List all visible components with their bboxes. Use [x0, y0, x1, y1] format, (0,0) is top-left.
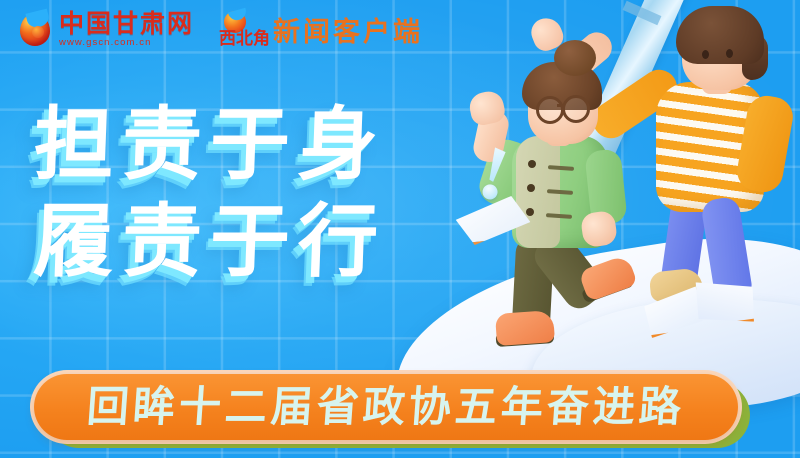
- primary-brand-text-group: 中国甘肃网 www.gscn.com.cn: [59, 10, 194, 49]
- book-page-right: [693, 275, 757, 330]
- secondary-brand-name: 西北角: [219, 30, 270, 48]
- illustration-group: [470, 0, 800, 420]
- person-green-glasses-lens-left: [536, 96, 564, 124]
- primary-brand-logo[interactable]: 中国甘肃网 www.gscn.com.cn: [18, 10, 220, 49]
- xibeijiao-swirl-logo-icon: 西北角: [220, 10, 250, 48]
- app-label: 新闻客户端: [273, 10, 423, 49]
- news-poster-banner: 中国甘肃网 www.gscn.com.cn 西北角 新闻客户端: [0, 0, 800, 458]
- primary-brand-url: www.gscn.com.cn: [59, 37, 194, 49]
- person-green-button-1: [528, 160, 536, 168]
- primary-brand-name: 中国甘肃网: [59, 10, 194, 37]
- person-green-glasses-lens-right: [562, 95, 590, 123]
- person-green-button-3: [526, 208, 534, 216]
- secondary-brand-logo[interactable]: 西北角 新闻客户端: [220, 10, 423, 49]
- headline-line-1: 担责于身: [32, 92, 388, 197]
- person-orange-eye-left: [702, 50, 709, 59]
- bottom-banner-text: 回眸十二届省政协五年奋进路: [85, 384, 686, 430]
- headline-line-2: 履责于行: [32, 189, 388, 294]
- person-green-button-2: [527, 184, 535, 192]
- person-orange-eye-right: [726, 49, 733, 58]
- person-orange-hair: [676, 6, 764, 64]
- person-green-glasses-bridge: [557, 104, 565, 107]
- bottom-banner[interactable]: 回眸十二届省政协五年奋进路: [34, 374, 738, 440]
- headline-group: 担责于身 履责于行: [34, 92, 386, 294]
- swirl-dot-shape: [32, 26, 44, 38]
- gansu-swirl-logo-icon: [18, 10, 52, 48]
- person-green-hair-bun: [554, 40, 596, 76]
- bottom-banner-group[interactable]: 回眸十二届省政协五年奋进路: [34, 374, 738, 440]
- book-page-left: [642, 286, 704, 338]
- person-green-shoe-back: [495, 310, 555, 346]
